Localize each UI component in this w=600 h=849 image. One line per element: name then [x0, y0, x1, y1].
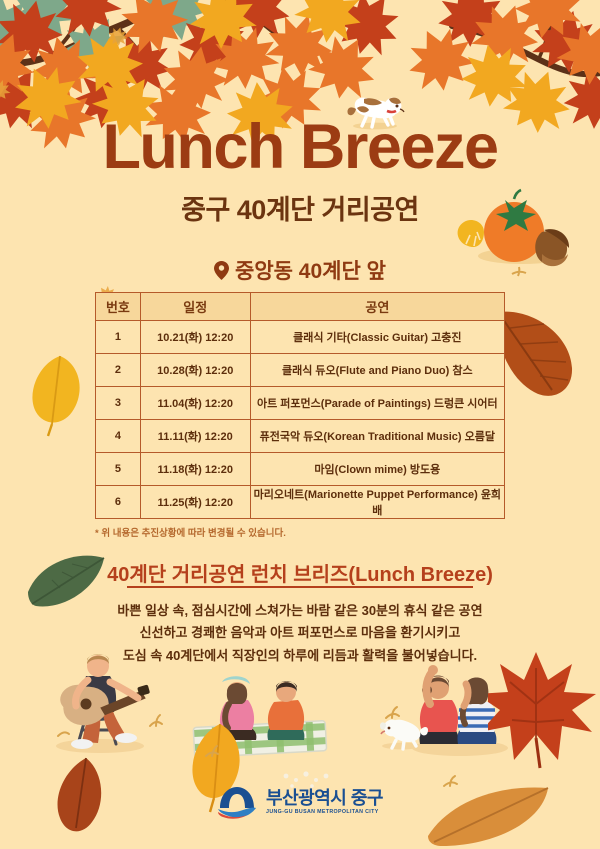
table-header-row: 번호 일정 공연 — [96, 293, 505, 321]
cell-no: 6 — [96, 486, 141, 519]
cell-date: 11.25(화) 12:20 — [140, 486, 250, 519]
cell-no: 4 — [96, 420, 141, 453]
left-leaf-decoration — [24, 350, 94, 440]
cell-date: 11.18(화) 12:20 — [140, 453, 250, 486]
location-line: 중앙동 40계단 앞 — [0, 255, 600, 285]
logo-korean-name: 부산광역시 중구 — [266, 789, 383, 807]
description-line-2: 신선하고 경쾌한 음악과 아트 퍼포먼스로 마음을 환기시키고 — [0, 622, 600, 644]
bottom-right-maple-decoration — [488, 648, 600, 778]
page-title: Lunch Breeze — [0, 116, 600, 179]
location-text: 중앙동 40계단 앞 — [235, 255, 386, 285]
page-subtitle: 중구 40계단 거리공연 — [0, 188, 600, 227]
map-pin-icon — [214, 261, 229, 280]
table-row: 6 11.25(화) 12:20 마리오네트(Marionette Puppet… — [96, 486, 505, 519]
column-header-no: 번호 — [96, 293, 141, 321]
couple-and-dog-illustration — [380, 662, 530, 762]
picnic-group-illustration — [186, 672, 336, 758]
cell-date: 10.28(화) 12:20 — [140, 354, 250, 387]
table-row: 2 10.28(화) 12:20 클래식 듀오(Flute and Piano … — [96, 354, 505, 387]
cell-show: 클래식 듀오(Flute and Piano Duo) 참스 — [250, 354, 504, 387]
table-row: 1 10.21(화) 12:20 클래식 기타(Classic Guitar) … — [96, 321, 505, 354]
description-line-3: 도심 속 40계단에서 직장인의 하루에 리듬과 활력을 불어넣습니다. — [0, 645, 600, 667]
cell-show: 퓨전국악 듀오(Korean Traditional Music) 오름달 — [250, 420, 504, 453]
column-header-show: 공연 — [250, 293, 504, 321]
cell-date: 11.11(화) 12:20 — [140, 420, 250, 453]
cell-no: 5 — [96, 453, 141, 486]
column-header-date: 일정 — [140, 293, 250, 321]
footer-logo: 부산광역시 중구 JUNG-GU BUSAN METROPOLITAN CITY — [0, 786, 600, 819]
cell-show: 마임(Clown mime) 방도용 — [250, 453, 504, 486]
cell-show: 아트 퍼포먼스(Parade of Paintings) 드렁큰 시어터 — [250, 387, 504, 420]
cell-show: 클래식 기타(Classic Guitar) 고충진 — [250, 321, 504, 354]
description-heading: 40계단 거리공연 런치 브리즈(Lunch Breeze) — [0, 558, 600, 587]
description-body: 바쁜 일상 속, 점심시간에 스쳐가는 바람 같은 30분의 휴식 같은 공연 … — [0, 600, 600, 667]
poster-canvas: Lunch Breeze 중구 40계단 거리공연 중앙동 40계단 앞 번호 … — [0, 0, 600, 849]
schedule-table: 번호 일정 공연 1 10.21(화) 12:20 클래식 기타(Classic… — [95, 292, 505, 519]
cell-date: 11.04(화) 12:20 — [140, 387, 250, 420]
schedule-footnote: * 위 내용은 추진상황에 따라 변경될 수 있습니다. — [95, 525, 286, 539]
logo-english-name: JUNG-GU BUSAN METROPOLITAN CITY — [266, 810, 383, 815]
table-row: 5 11.18(화) 12:20 마임(Clown mime) 방도용 — [96, 453, 505, 486]
cell-show: 마리오네트(Marionette Puppet Performance) 윤희배 — [250, 486, 504, 519]
cell-date: 10.21(화) 12:20 — [140, 321, 250, 354]
table-row: 3 11.04(화) 12:20 아트 퍼포먼스(Parade of Paint… — [96, 387, 505, 420]
cell-no: 3 — [96, 387, 141, 420]
description-divider — [127, 586, 473, 588]
cell-no: 2 — [96, 354, 141, 387]
description-line-1: 바쁜 일상 속, 점심시간에 스쳐가는 바람 같은 30분의 휴식 같은 공연 — [0, 600, 600, 622]
cell-no: 1 — [96, 321, 141, 354]
busan-junggu-emblem-icon — [217, 786, 257, 819]
logo-text-block: 부산광역시 중구 JUNG-GU BUSAN METROPOLITAN CITY — [266, 789, 383, 815]
table-row: 4 11.11(화) 12:20 퓨전국악 듀오(Korean Traditio… — [96, 420, 505, 453]
